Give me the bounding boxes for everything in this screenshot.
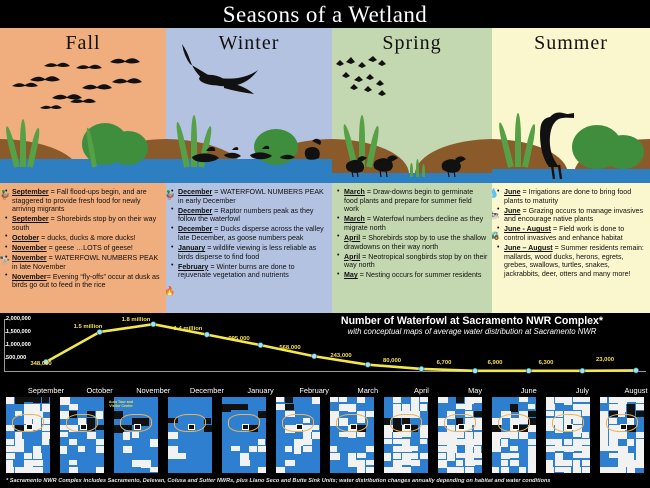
- map-parcel: [627, 467, 635, 473]
- map-parcel: [258, 446, 266, 452]
- map-parcel: [366, 411, 374, 417]
- spring-bullet-list: March = Draw-downs begin to germinate fo…: [336, 188, 488, 280]
- map-parcel: [411, 446, 418, 451]
- map-parcel: [519, 397, 528, 402]
- map-parcel: [348, 460, 357, 467]
- map-parcel: [357, 467, 365, 473]
- visitor-center-icon: [296, 424, 303, 430]
- x-tick-label: November: [136, 386, 170, 395]
- map-parcel: [222, 404, 231, 412]
- map-parcel: [528, 411, 536, 417]
- map-parcel: [627, 397, 636, 402]
- map-parcel: [573, 460, 580, 467]
- list-item: November = WATERFOWL NUMBERS PEAK in lat…: [4, 254, 162, 271]
- map-parcel: [411, 453, 418, 459]
- visitor-center-icon: [350, 424, 357, 430]
- map-parcel: [555, 439, 562, 446]
- map-parcel: [384, 467, 393, 473]
- map-parcel: [456, 460, 463, 466]
- map-parcel: [357, 453, 366, 458]
- map-parcel: [636, 397, 644, 403]
- list-item: October = ducks, ducks & more ducks!: [4, 234, 162, 243]
- map-parcel: [33, 467, 43, 473]
- map-parcel: [456, 467, 464, 473]
- map-parcel: [15, 397, 24, 404]
- season-illustration-row: Fall: [0, 28, 650, 183]
- season-heading-fall: Fall: [0, 32, 166, 55]
- list-item: April = Shorebirds stop by to use the sh…: [336, 234, 488, 251]
- water-map-june: [492, 397, 536, 473]
- map-parcel: [384, 439, 392, 444]
- map-parcel: [132, 432, 139, 438]
- map-parcel: [474, 411, 482, 417]
- visitor-center-icon: [242, 424, 249, 430]
- footnote-text: * Sacramento NWR Complex includes Sacram…: [6, 478, 551, 484]
- chart-point: [419, 366, 424, 371]
- map-parcel: [33, 404, 40, 411]
- map-parcel: [636, 460, 644, 468]
- map-parcel: [123, 446, 132, 453]
- map-parcel: [510, 432, 518, 439]
- map-parcel: [33, 460, 43, 466]
- map-parcel: [456, 432, 464, 438]
- x-tick-label: January: [247, 386, 273, 395]
- infographic-page: Seasons of a Wetland Fall: [0, 0, 650, 488]
- chart-point: [365, 362, 370, 367]
- water-map-july: [546, 397, 590, 473]
- map-parcel: [618, 397, 627, 404]
- season-panel-spring: Spring: [332, 28, 492, 183]
- map-parcel: [582, 411, 590, 416]
- fire-icon: 🔥: [166, 287, 175, 296]
- map-parcel: [546, 411, 554, 416]
- map-parcel: [474, 397, 482, 403]
- map-parcel: [150, 467, 158, 472]
- map-parcel: [420, 432, 428, 438]
- map-parcel: [492, 446, 501, 452]
- x-tick-label: April: [414, 386, 429, 395]
- map-parcel: [87, 432, 96, 439]
- map-parcel: [501, 467, 509, 473]
- x-tick-label: March: [358, 386, 379, 395]
- map-parcel: [6, 453, 15, 459]
- map-parcel: [402, 432, 411, 437]
- map-parcel: [582, 460, 590, 466]
- map-parcel: [339, 397, 347, 402]
- map-parcel: [60, 446, 67, 454]
- map-parcel: [474, 460, 482, 465]
- map-parcel: [618, 467, 626, 473]
- map-parcel: [348, 404, 356, 412]
- season-panel-winter: Winter: [166, 28, 332, 183]
- map-parcel: [528, 439, 536, 445]
- map-parcel: [33, 446, 41, 453]
- waterfowl-chart: Number of Waterfowl at Sacramento NWR Co…: [0, 313, 650, 385]
- map-parcel: [555, 446, 564, 451]
- list-item: February = Winter burns are done to reju…: [170, 263, 328, 280]
- map-parcel: [24, 453, 32, 459]
- chart-point: [472, 368, 477, 373]
- map-parcel: [501, 439, 508, 447]
- fall-reed-2: [20, 119, 26, 167]
- list-item: November= Evening “fly-offs” occur at du…: [4, 273, 162, 290]
- map-parcel: [573, 467, 581, 473]
- title-bar: Seasons of a Wetland: [0, 0, 650, 28]
- season-text-winter: 🦆 🔥 December = WATERFOWL NUMBERS PEAK in…: [166, 183, 332, 313]
- page-title: Seasons of a Wetland: [223, 3, 427, 26]
- winter-bullet-list: December = WATERFOWL NUMBERS PEAK in ear…: [170, 188, 328, 280]
- map-parcel: [168, 432, 178, 439]
- chart-plot-area: 2,000,000 1,500,000 1,000,000 500,000 34…: [0, 317, 650, 375]
- list-item: March = Waterfowl numbers decline as the…: [336, 215, 488, 232]
- map-parcel: [33, 397, 41, 403]
- map-parcel: [420, 397, 428, 402]
- chart-point: [151, 322, 156, 327]
- visitor-center-icon: [134, 424, 141, 430]
- chart-point: [204, 332, 209, 337]
- water-map-november: [114, 397, 158, 473]
- map-parcel: [294, 446, 301, 454]
- map-parcel: [294, 439, 303, 446]
- season-text-fall: 🦆 🔭 September = Fall flood-ups begin, an…: [0, 183, 166, 313]
- map-parcel: [15, 446, 24, 452]
- map-parcel: [636, 411, 644, 417]
- map-parcel: [285, 460, 295, 466]
- map-parcel: [42, 397, 49, 403]
- x-tick-label: July: [576, 386, 589, 395]
- map-parcel: [393, 404, 401, 411]
- map-parcel: [438, 453, 446, 459]
- map-parcel: [69, 439, 77, 445]
- map-parcel: [438, 460, 447, 468]
- summer-reed-2: [515, 113, 521, 167]
- map-parcel: [600, 397, 607, 403]
- visitor-center-icon: [188, 424, 195, 430]
- point-label-march: 243,000: [330, 353, 351, 359]
- water-map-september: [6, 397, 50, 473]
- map-parcel: [564, 460, 572, 466]
- map-parcel: [528, 467, 536, 473]
- list-item: May = Nesting occurs for summer resident…: [336, 271, 488, 280]
- map-parcel: [357, 460, 365, 467]
- map-parcel: [276, 397, 284, 402]
- map-parcel: [339, 432, 348, 437]
- map-parcel: [276, 467, 285, 473]
- map-parcel: [240, 453, 249, 460]
- map-parcel: [357, 432, 365, 437]
- water-map-march: [330, 397, 374, 473]
- map-parcel: [6, 446, 15, 452]
- fall-bullet-list: September = Fall flood-ups begin, and ar…: [4, 188, 162, 290]
- map-parcel: [303, 439, 312, 445]
- summer-bullet-list: June = Irrigations are done to bring foo…: [496, 188, 646, 278]
- map-parcel: [258, 467, 266, 473]
- map-parcel: [510, 453, 519, 458]
- map-parcel: [618, 460, 627, 467]
- map-parcel: [285, 446, 292, 452]
- x-tick-label: June: [521, 386, 537, 395]
- map-parcel: [393, 467, 402, 473]
- map-parcel: [456, 439, 465, 445]
- map-parcel: [546, 404, 555, 410]
- point-label-december: 1.4 million: [174, 326, 203, 332]
- map-parcel: [528, 446, 536, 453]
- map-parcel: [564, 397, 572, 405]
- map-parcel: [582, 397, 590, 402]
- map-parcel: [510, 446, 518, 451]
- map-parcel: [6, 467, 14, 473]
- map-parcel: [42, 439, 49, 445]
- chart-point: [258, 343, 263, 348]
- map-parcel: [60, 432, 68, 437]
- map-parcel: [96, 439, 104, 445]
- chart-point: [580, 368, 585, 373]
- point-label-april: 80,000: [383, 358, 401, 364]
- chart-x-tick-labels: SeptemberOctoberNovemberDecemberJanuaryF…: [0, 385, 650, 397]
- list-item: September = Fall flood-ups begin, and ar…: [4, 188, 162, 214]
- map-parcel: [564, 439, 572, 445]
- point-label-september: 348,000: [30, 361, 51, 367]
- x-tick-label: December: [190, 386, 224, 395]
- water-distribution-map-row: Auto Tour and Visitor Center: [0, 397, 650, 475]
- map-parcel: [366, 467, 374, 473]
- map-parcel: [465, 397, 474, 404]
- map-parcel: [510, 404, 518, 412]
- point-label-june: 6,900: [488, 360, 503, 366]
- map-parcel: [546, 460, 553, 467]
- map-parcel: [555, 397, 564, 403]
- water-map-january: [222, 397, 266, 473]
- map-parcel: [447, 453, 455, 461]
- map-parcel: [456, 404, 465, 409]
- map-parcel: [330, 397, 338, 402]
- winter-duck-silhouettes-icon: [166, 135, 332, 167]
- point-label-november: 1.8 million: [122, 317, 151, 323]
- map-parcel: [600, 439, 608, 446]
- map-parcel: [240, 404, 248, 410]
- map-parcel: [582, 467, 590, 473]
- map-parcel: [42, 432, 50, 439]
- map-parcel: [474, 439, 482, 445]
- map-parcel: [582, 439, 590, 445]
- map-parcel: [636, 404, 644, 410]
- map-parcel: [420, 404, 427, 411]
- map-parcel: [609, 446, 618, 451]
- water-map-august: [600, 397, 644, 473]
- chart-point: [97, 329, 102, 334]
- map-parcel: [492, 432, 501, 439]
- list-item: December = WATERFOWL NUMBERS PEAK in ear…: [170, 188, 328, 205]
- chart-point: [312, 354, 317, 359]
- map-parcel: [636, 432, 644, 438]
- x-tick-label: August: [624, 386, 647, 395]
- spring-grass-3: [422, 164, 425, 177]
- map-parcel: [492, 467, 499, 473]
- chart-point: [526, 368, 531, 373]
- map-parcel: [573, 404, 582, 410]
- map-parcel: [366, 460, 374, 465]
- map-parcel: [636, 439, 644, 446]
- visitor-center-icon: [26, 424, 33, 430]
- list-item: June - August = Field work is done to co…: [496, 225, 646, 242]
- map-parcel: [33, 453, 42, 459]
- season-heading-winter: Winter: [166, 32, 332, 55]
- map-parcel: [582, 432, 589, 438]
- list-item: November = geese …LOTS of geese!: [4, 244, 162, 253]
- map-parcel: [627, 439, 634, 446]
- map-parcel: [564, 467, 571, 473]
- map-parcel: [609, 467, 618, 473]
- map-parcel: [573, 432, 581, 437]
- season-text-spring: March = Draw-downs begin to germinate fo…: [332, 183, 492, 313]
- map-parcel: [519, 467, 526, 473]
- point-label-may: 6,700: [437, 360, 452, 366]
- map-parcel: [438, 439, 447, 445]
- map-parcel: [393, 446, 402, 452]
- map-parcel: [132, 460, 141, 467]
- season-text-row: 🦆 🔭 September = Fall flood-ups begin, an…: [0, 183, 650, 313]
- water-map-may: [438, 397, 482, 473]
- map-parcel: [384, 432, 392, 438]
- map-parcel: [456, 453, 465, 458]
- x-tick-label: September: [28, 386, 64, 395]
- list-item: June – August = Summer residents remain:…: [496, 244, 646, 278]
- map-parcel: [384, 453, 391, 461]
- map-parcel: [438, 397, 448, 403]
- visitor-center-icon: [512, 424, 519, 430]
- map-parcel: [411, 397, 419, 404]
- map-parcel: [546, 467, 554, 473]
- map-parcel: [474, 453, 482, 458]
- visitor-center-icon: [404, 424, 411, 430]
- x-tick-label: May: [468, 386, 482, 395]
- map-parcel: [258, 439, 265, 445]
- point-label-july: 6,300: [539, 360, 554, 366]
- map-parcel: [240, 460, 250, 466]
- map-parcel: [510, 460, 519, 466]
- visitor-center-icon: [566, 424, 573, 430]
- map-parcel: [168, 453, 177, 459]
- map-parcel: [465, 446, 473, 453]
- point-label-october: 1.5 million: [74, 324, 103, 330]
- map-parcel: [15, 439, 24, 446]
- season-text-summer: 💧 🐄 🚜 June = Irrigations are done to bri…: [492, 183, 650, 313]
- map-parcel: [618, 432, 627, 439]
- map-parcel: [6, 439, 14, 445]
- map-parcel: [411, 460, 420, 466]
- map-parcel: [582, 453, 590, 458]
- season-heading-summer: Summer: [492, 32, 650, 55]
- visitor-center-icon: [458, 424, 465, 430]
- map-parcel: [42, 404, 50, 412]
- point-label-february: 568,000: [279, 345, 300, 351]
- map-parcel: [393, 453, 401, 459]
- water-map-december: [168, 397, 212, 473]
- map-parcel: [555, 467, 564, 472]
- map-parcel: [285, 397, 293, 403]
- map-parcel: [357, 397, 365, 403]
- list-item: December = Raptor numbers peak as they f…: [170, 207, 328, 224]
- point-label-august: 23,000: [596, 357, 614, 363]
- water-map-april: [384, 397, 428, 473]
- list-item: June = Grazing occurs to manage invasive…: [496, 207, 646, 224]
- map-parcel: [501, 453, 510, 459]
- summer-heron-icon: [530, 89, 582, 181]
- map-parcel: [348, 432, 356, 438]
- map-parcel: [555, 453, 563, 460]
- map-parcel: [465, 404, 472, 410]
- map-parcel: [393, 432, 402, 438]
- map-parcel: [258, 411, 266, 418]
- season-heading-spring: Spring: [332, 32, 492, 55]
- visitor-center-icon: [80, 424, 87, 430]
- list-item: March = Draw-downs begin to germinate fo…: [336, 188, 488, 214]
- map-parcel: [285, 404, 294, 410]
- map-parcel: [573, 439, 582, 446]
- spring-grass-1: [410, 163, 413, 177]
- spring-grass-2: [416, 159, 419, 177]
- list-item: December = Ducks disperse across the val…: [170, 225, 328, 242]
- list-item: September = Shorebirds stop by on their …: [4, 215, 162, 232]
- map-parcel: [528, 404, 535, 409]
- season-panel-fall: Fall: [0, 28, 166, 183]
- map-parcel: [303, 446, 312, 452]
- map-parcel: [96, 446, 104, 453]
- map-parcel: [402, 467, 411, 473]
- map-parcel: [249, 446, 257, 452]
- map-parcel: [69, 467, 78, 473]
- auto-tour-annotation: Auto Tour and Visitor Center: [104, 400, 138, 408]
- map-parcel: [69, 404, 78, 410]
- map-parcel: [546, 439, 555, 445]
- list-item: April = Neotropical songbirds stop by on…: [336, 253, 488, 270]
- map-parcel: [69, 460, 77, 465]
- water-map-february: [276, 397, 320, 473]
- chart-point: [633, 368, 638, 373]
- map-parcel: [438, 432, 447, 439]
- visitor-center-icon: [620, 424, 627, 430]
- footnote-bar: * Sacramento NWR Complex includes Sacram…: [0, 477, 650, 488]
- map-parcel: [456, 397, 464, 403]
- map-parcel: [312, 432, 320, 439]
- map-parcel: [501, 460, 508, 466]
- map-parcel: [501, 432, 510, 438]
- map-parcel: [609, 397, 618, 403]
- map-parcel: [6, 397, 14, 404]
- map-parcel: [330, 453, 340, 460]
- fall-bush-2: [108, 131, 148, 165]
- map-parcel: [177, 453, 186, 459]
- list-item: January = wildlife viewing is less relia…: [170, 244, 328, 261]
- map-parcel: [600, 446, 609, 451]
- map-parcel: [393, 439, 402, 444]
- map-parcel: [366, 446, 374, 452]
- map-parcel: [78, 446, 85, 452]
- map-parcel: [546, 446, 555, 452]
- map-parcel: [231, 446, 240, 451]
- x-tick-label: October: [86, 386, 112, 395]
- map-parcel: [519, 432, 528, 439]
- map-parcel: [420, 453, 428, 459]
- summer-bush-2: [602, 135, 644, 169]
- map-parcel: [330, 446, 337, 452]
- map-parcel: [465, 467, 474, 473]
- map-parcel: [123, 432, 130, 440]
- map-parcel: [276, 404, 285, 410]
- map-parcel: [96, 467, 104, 473]
- map-parcel: [636, 446, 644, 453]
- season-panel-summer: Summer: [492, 28, 650, 183]
